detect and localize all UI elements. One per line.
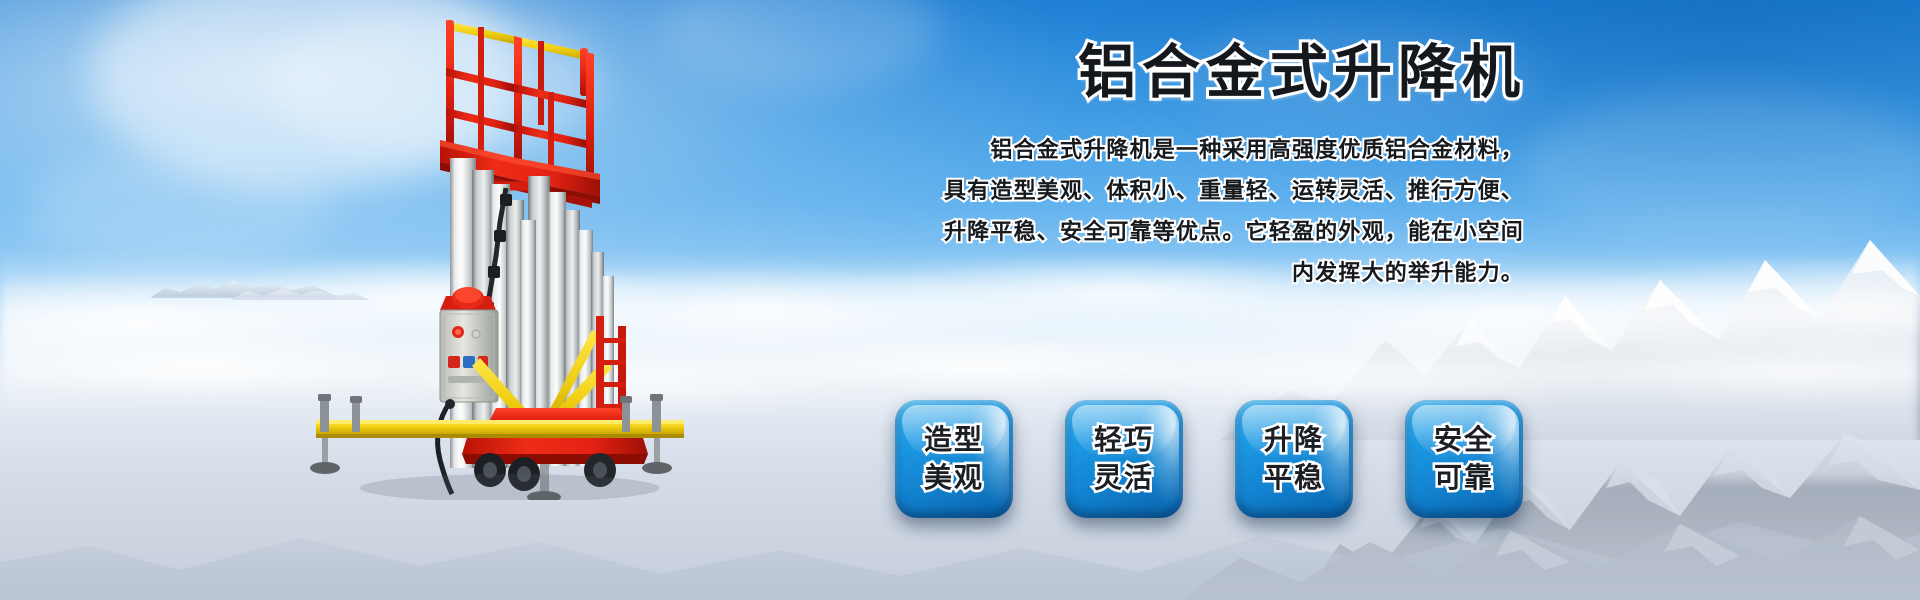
badge-line-1: 安全 bbox=[1434, 421, 1494, 459]
description-line: 具有造型美观、体积小、重量轻、运转灵活、推行方便、 bbox=[760, 170, 1524, 211]
product-image-aluminum-lift bbox=[300, 8, 700, 500]
feature-badge-appearance[interactable]: 造型 美观 bbox=[895, 400, 1013, 518]
badge-line-1: 造型 bbox=[924, 421, 984, 459]
feature-badge-smooth-lift[interactable]: 升降 平稳 bbox=[1235, 400, 1353, 518]
badge-line-2: 平稳 bbox=[1264, 459, 1324, 497]
description-line: 内发挥大的举升能力。 bbox=[760, 252, 1524, 293]
badge-line-2: 灵活 bbox=[1094, 459, 1154, 497]
badge-line-2: 美观 bbox=[924, 459, 984, 497]
product-description: 铝合金式升降机是一种采用高强度优质铝合金材料， 具有造型美观、体积小、重量轻、运… bbox=[760, 129, 1560, 293]
badge-line-2: 可靠 bbox=[1434, 459, 1494, 497]
banner-text-block: 铝合金式升降机 铝合金式升降机是一种采用高强度优质铝合金材料， 具有造型美观、体… bbox=[760, 40, 1560, 293]
description-line: 铝合金式升降机是一种采用高强度优质铝合金材料， bbox=[760, 129, 1524, 170]
badge-line-1: 升降 bbox=[1264, 421, 1324, 459]
feature-badge-lightweight[interactable]: 轻巧 灵活 bbox=[1065, 400, 1183, 518]
feature-badge-list: 造型 美观 轻巧 灵活 升降 平稳 安全 可靠 bbox=[895, 400, 1523, 518]
product-banner: 铝合金式升降机 铝合金式升降机是一种采用高强度优质铝合金材料， 具有造型美观、体… bbox=[0, 0, 1920, 600]
badge-line-1: 轻巧 bbox=[1094, 421, 1154, 459]
page-title: 铝合金式升降机 bbox=[760, 40, 1560, 107]
description-line: 升降平稳、安全可靠等优点。它轻盈的外观，能在小空间 bbox=[760, 211, 1524, 252]
feature-badge-safety[interactable]: 安全 可靠 bbox=[1405, 400, 1523, 518]
